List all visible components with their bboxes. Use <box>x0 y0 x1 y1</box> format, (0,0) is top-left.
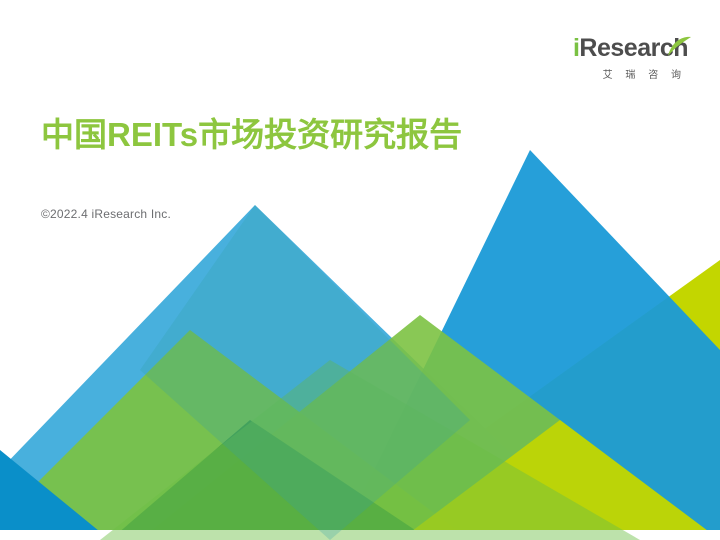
logo-chinese-text: 艾 瑞 咨 询 <box>603 66 686 81</box>
iresearch-logo: iResearch 艾 瑞 咨 询 <box>558 34 688 86</box>
logo-swoosh-icon <box>666 36 692 58</box>
decorative-mountain-graphic <box>0 120 720 540</box>
slide-canvas: iResearch 艾 瑞 咨 询 中国REITs市场投资研究报告 ©2022.… <box>0 0 720 540</box>
